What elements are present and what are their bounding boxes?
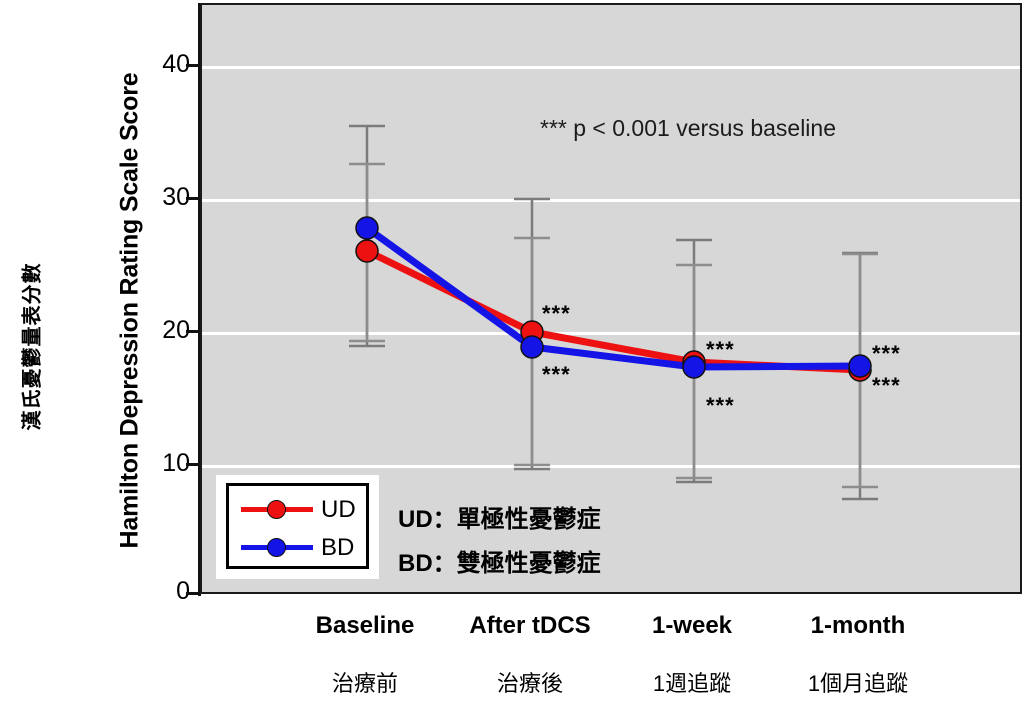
- error-bars-ud: [349, 164, 878, 487]
- datapoint-bd-after-tdcs: [521, 336, 543, 358]
- legend-marker-bd: [267, 538, 286, 557]
- x-axis-label-cn-1-week: 1週追蹤: [653, 666, 731, 698]
- star-label-bd-1-month: ***: [872, 373, 901, 399]
- legend-marker-ud: [267, 500, 286, 519]
- star-label-ud-1-month: ***: [872, 341, 901, 367]
- y-tickmark-40: [186, 64, 200, 67]
- legend-explanation-ud: UD：單極性憂鬱症: [398, 499, 601, 534]
- y-tickmark-20: [186, 330, 200, 333]
- legend-label-bd: BD: [321, 534, 354, 562]
- legend-entry-ud[interactable]: UD: [229, 490, 366, 528]
- datapoint-bd-1-week: [683, 356, 705, 378]
- y-axis-tick-labels: 40 30 20 10 0: [120, 0, 190, 713]
- x-axis-label-cn-after-tdcs: 治療後: [497, 666, 563, 698]
- error-bars-bd: [349, 126, 878, 499]
- y-tickmark-0: [186, 592, 200, 595]
- x-axis-label-after-tdcs: After tDCS: [469, 612, 590, 640]
- y-axis-title-chinese: 漢氏憂鬱量表分數: [16, 187, 45, 507]
- significance-note: *** p < 0.001 versus baseline: [540, 115, 836, 142]
- x-axis-label-1-week: 1-week: [652, 612, 732, 640]
- star-label-bd-1-week: ***: [706, 393, 735, 419]
- legend-label-ud: UD: [321, 496, 356, 524]
- x-axis-label-1-month: 1-month: [811, 612, 906, 640]
- y-tick-label-10: 10: [130, 449, 190, 478]
- plot-area: *** p < 0.001 versus baseline *** *** **…: [200, 3, 1022, 594]
- x-axis-label-cn-1-month: 1個月追蹤: [808, 666, 908, 698]
- y-tick-label-20: 20: [130, 316, 190, 345]
- legend-entry-bd[interactable]: BD: [229, 528, 366, 566]
- series-line-ud: [367, 251, 860, 370]
- y-tick-label-30: 30: [130, 183, 190, 212]
- star-label-bd-after-tdcs: ***: [542, 362, 571, 388]
- legend[interactable]: UD BD: [226, 483, 369, 569]
- x-axis-label-cn-baseline: 治療前: [332, 666, 398, 698]
- datapoint-bd-1-month: [849, 355, 871, 377]
- datapoint-ud-baseline: [356, 240, 378, 262]
- chart-figure: Hamilton Depression Rating Scale Score 漢…: [0, 0, 1024, 713]
- y-tick-label-0: 0: [130, 577, 190, 606]
- datapoint-bd-baseline: [356, 217, 378, 239]
- star-label-ud-after-tdcs: ***: [542, 301, 571, 327]
- star-label-ud-1-week: ***: [706, 337, 735, 363]
- y-tickmark-30: [186, 197, 200, 200]
- y-tickmark-10: [186, 463, 200, 466]
- x-axis-label-baseline: Baseline: [316, 612, 415, 640]
- legend-explanation-bd: BD：雙極性憂鬱症: [398, 543, 601, 578]
- y-tick-label-40: 40: [130, 50, 190, 79]
